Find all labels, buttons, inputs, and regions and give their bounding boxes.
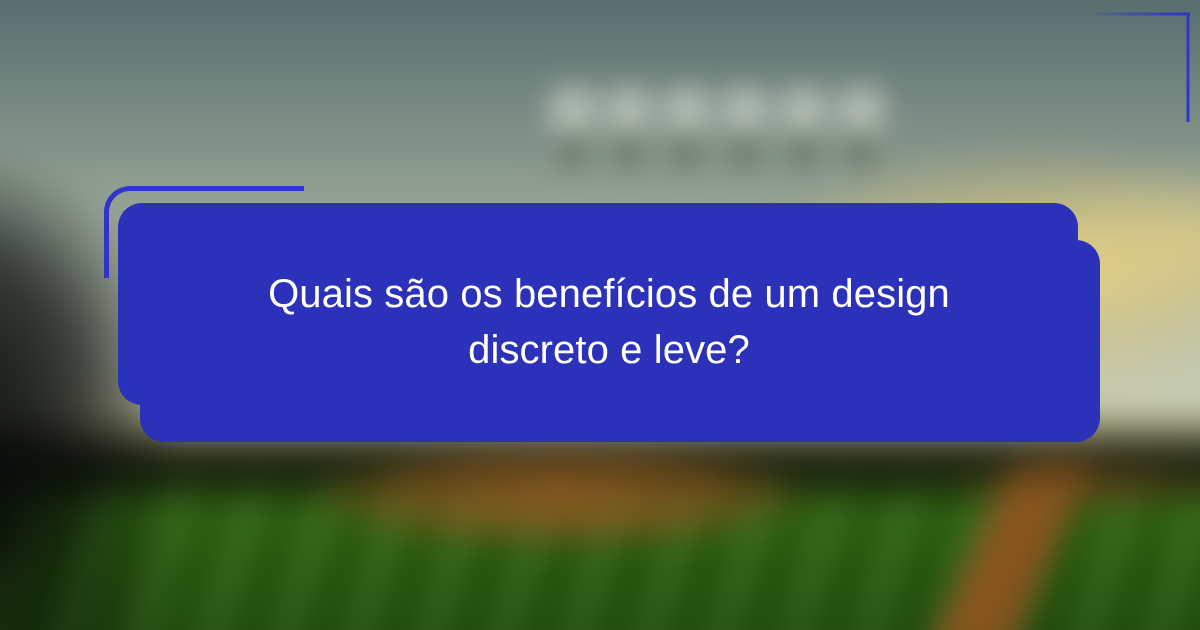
- social-card-canvas: Quais são os benefícios de um design dis…: [0, 0, 1200, 630]
- headline-text: Quais são os benefícios de um design dis…: [268, 267, 950, 377]
- headline-container: Quais são os benefícios de um design dis…: [118, 203, 1100, 442]
